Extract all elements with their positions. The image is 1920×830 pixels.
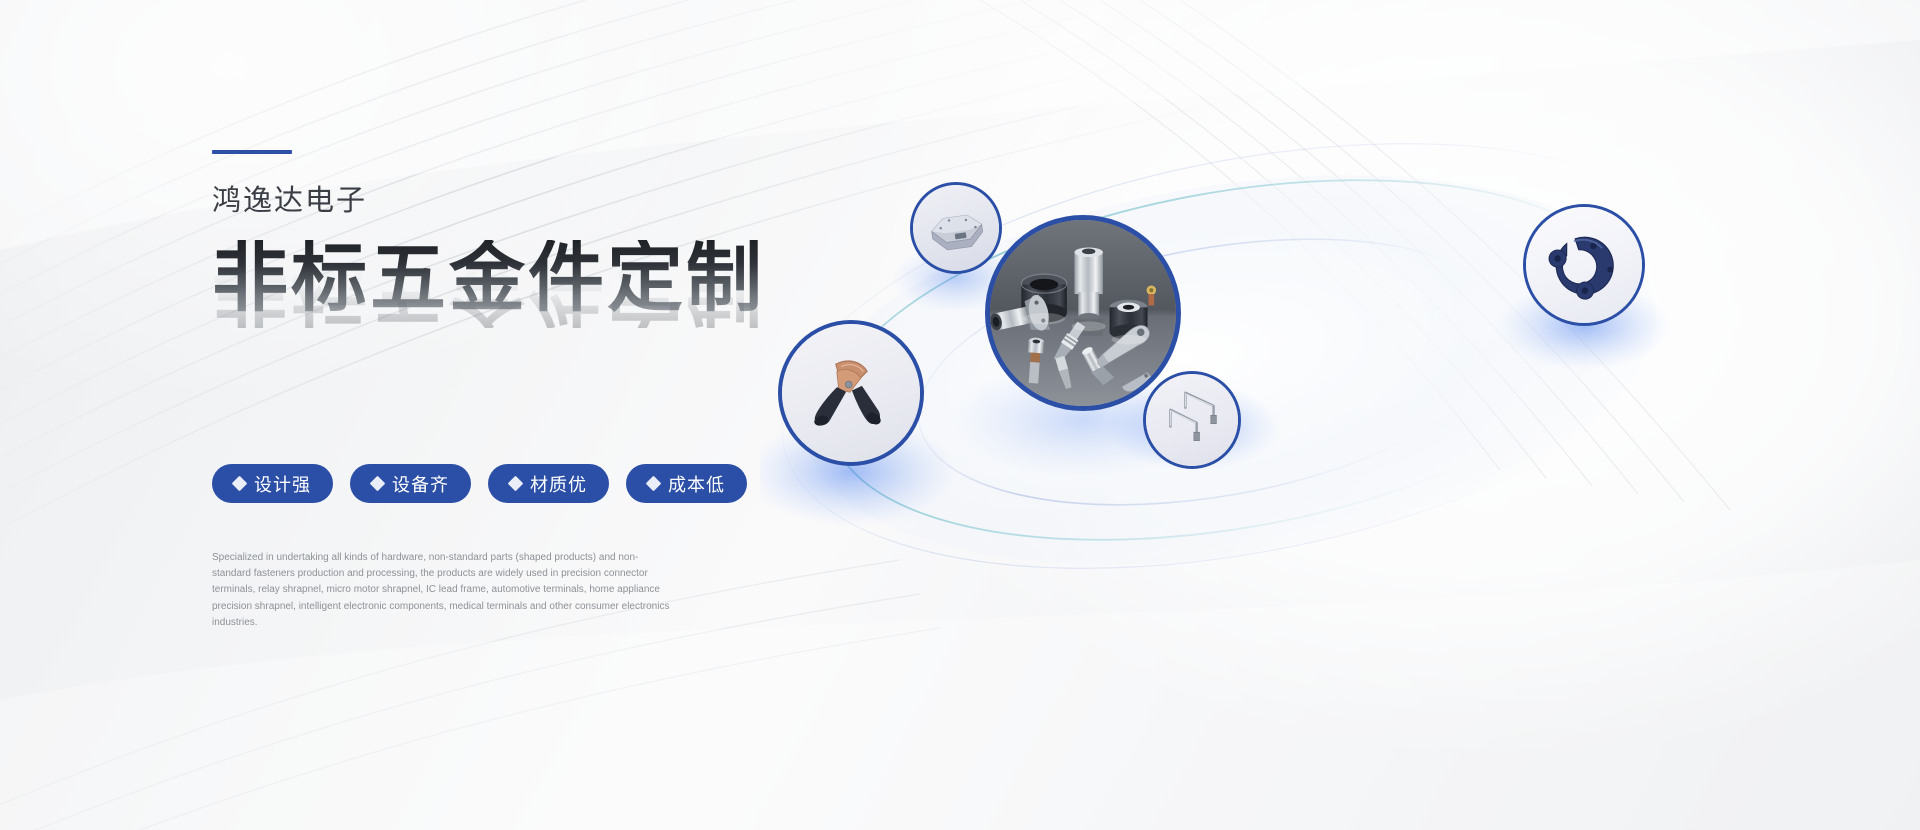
- diamond-icon: [370, 476, 386, 492]
- feature-badge-list: 设计强 设备齐 材质优 成本低: [212, 464, 747, 503]
- feature-badge-label: 设备齐: [392, 471, 449, 497]
- accent-bar: [212, 150, 292, 154]
- feature-badge-1[interactable]: 设备齐: [350, 464, 471, 503]
- feature-badge-label: 设计强: [254, 471, 311, 497]
- feature-badge-0[interactable]: 设计强: [212, 464, 333, 503]
- retaining-ring-shape: [1526, 207, 1642, 323]
- product-circle-enclosure[interactable]: [910, 182, 1002, 274]
- bent-pins-shape: [1146, 374, 1238, 466]
- product-circle-bent-pins[interactable]: [1143, 371, 1241, 469]
- feature-badge-3[interactable]: 成本低: [626, 464, 747, 503]
- diamond-icon: [508, 476, 524, 492]
- enclosure-part-shape: [913, 185, 999, 271]
- product-circle-retaining-ring[interactable]: [1523, 204, 1645, 326]
- hero-banner: 鸿逸达电子 非标五金件定制 非标五金件定制 设计强 设备齐 材质优 成本低 Sp…: [0, 0, 1920, 830]
- feature-badge-label: 材质优: [530, 471, 587, 497]
- product-showcase: [760, 120, 1830, 680]
- feature-badge-2[interactable]: 材质优: [488, 464, 609, 503]
- clamp-part-shape: [782, 324, 920, 462]
- feature-badge-label: 成本低: [668, 471, 725, 497]
- description-paragraph: Specialized in undertaking all kinds of …: [212, 550, 672, 631]
- diamond-icon: [646, 476, 662, 492]
- product-circle-clamp[interactable]: [778, 320, 924, 466]
- diamond-icon: [232, 476, 248, 492]
